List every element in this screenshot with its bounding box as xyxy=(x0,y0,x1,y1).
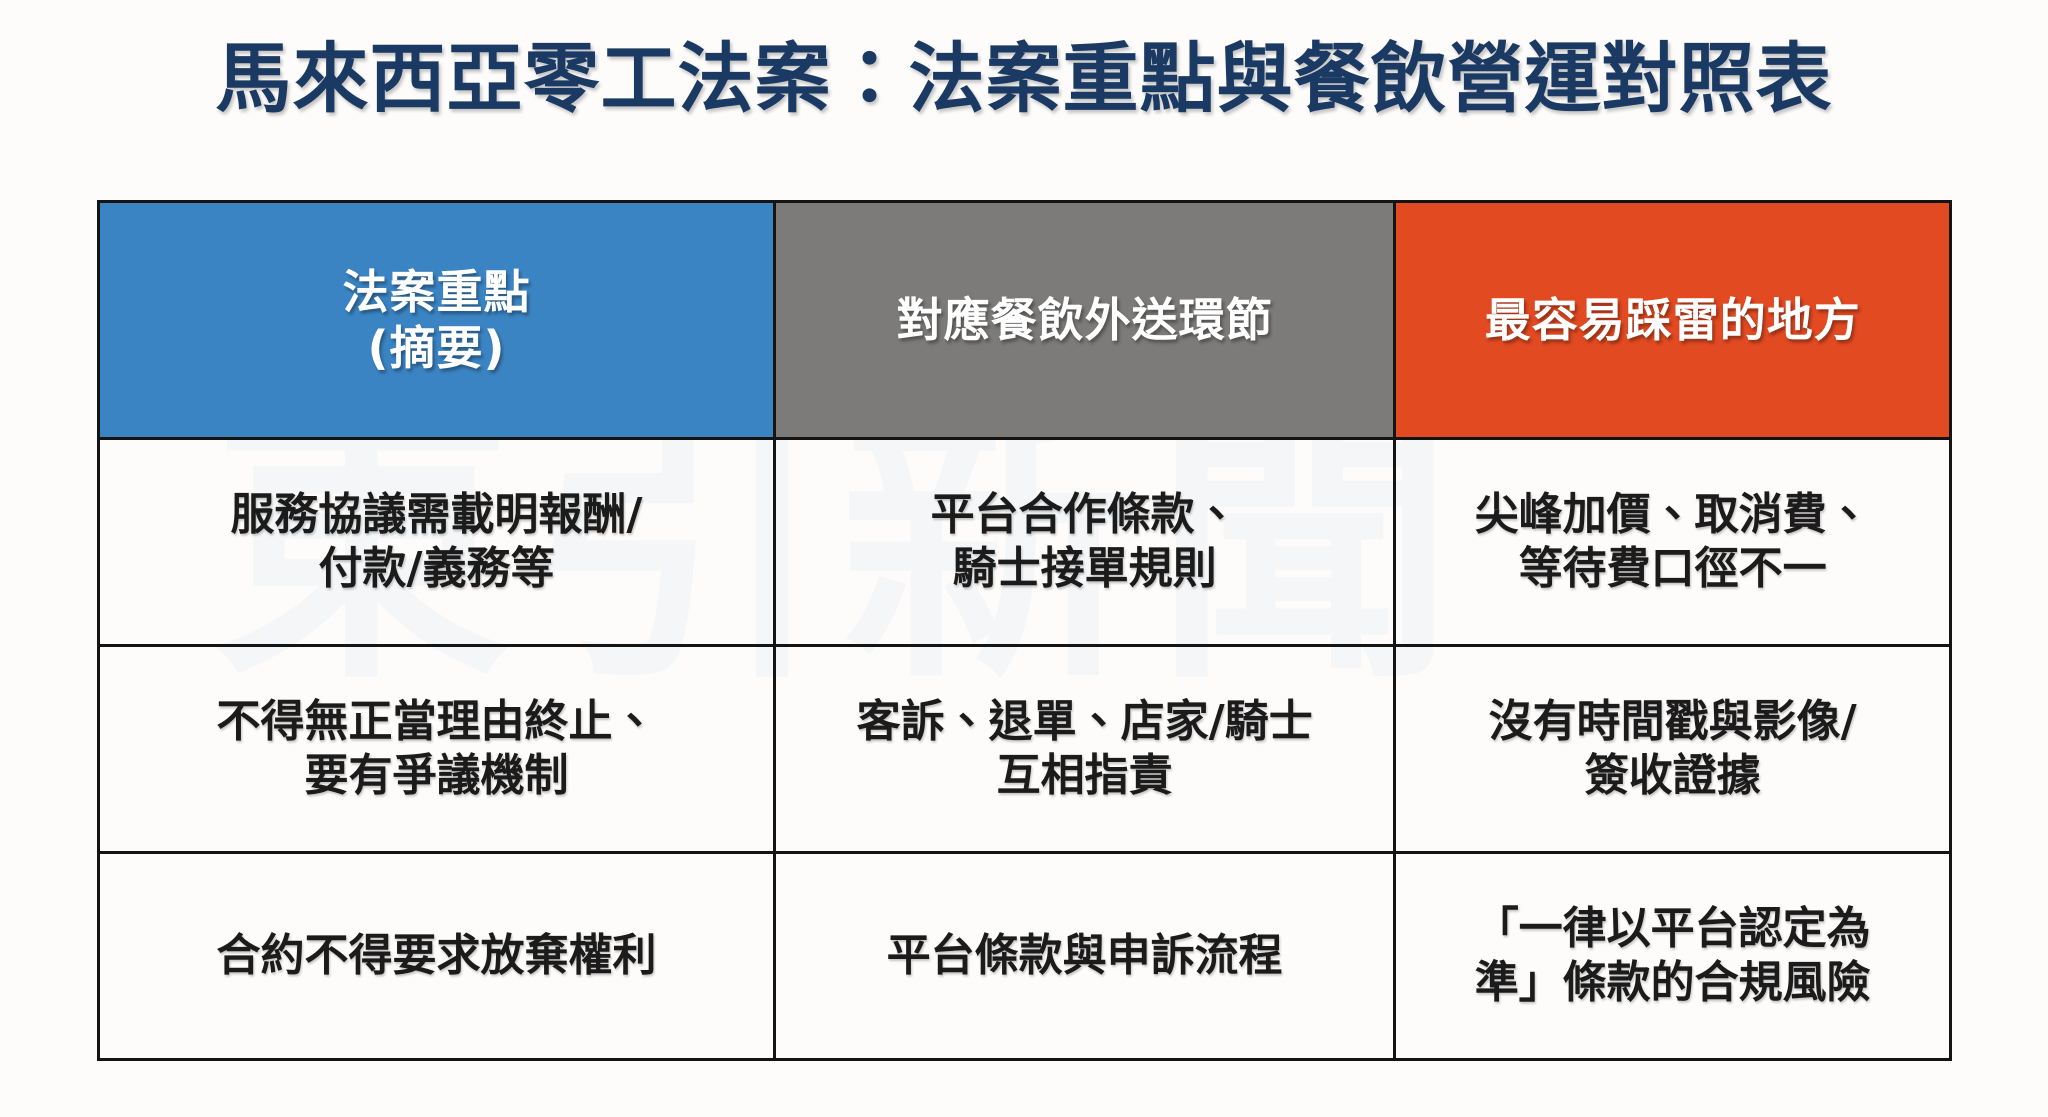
cell-row1-col3: 尖峰加價、取消費、 等待費口徑不一 xyxy=(1395,439,1951,646)
table-row: 不得無正當理由終止、 要有爭議機制 客訴、退單、店家/騎士 互相指責 沒有時間戳… xyxy=(99,646,1951,853)
cell-row1-col1-line1: 服務協議需載明報酬/ xyxy=(114,488,759,542)
cell-row2-col1: 不得無正當理由終止、 要有爭議機制 xyxy=(99,646,775,853)
column-header-delivery-stage-line1: 對應餐飲外送環節 xyxy=(790,292,1379,348)
cell-row1-col2-line2: 騎士接單規則 xyxy=(790,542,1379,596)
cell-row1-col1: 服務協議需載明報酬/ 付款/義務等 xyxy=(99,439,775,646)
page-title-text: 馬來西亞零工法案：法案重點與餐飲營運對照表 xyxy=(216,38,1833,120)
cell-row1-col2: 平台合作條款、 騎士接單規則 xyxy=(774,439,1394,646)
table-header-row: 法案重點 (摘要) 對應餐飲外送環節 最容易踩雷的地方 xyxy=(99,202,1951,439)
table-header: 法案重點 (摘要) 對應餐飲外送環節 最容易踩雷的地方 xyxy=(99,202,1951,439)
comparison-table-container: 法案重點 (摘要) 對應餐飲外送環節 最容易踩雷的地方 服務協議需載明報酬/ 付… xyxy=(97,200,1952,1061)
cell-row3-col3-line1: 「一律以平台認定為 xyxy=(1410,902,1935,956)
cell-row2-col2-line2: 互相指責 xyxy=(790,749,1379,803)
cell-row2-col1-line1: 不得無正當理由終止、 xyxy=(114,695,759,749)
column-header-pitfalls-line1: 最容易踩雷的地方 xyxy=(1410,292,1935,348)
cell-row1-col3-line1: 尖峰加價、取消費、 xyxy=(1410,488,1935,542)
table-body: 服務協議需載明報酬/ 付款/義務等 平台合作條款、 騎士接單規則 尖峰加價、取消… xyxy=(99,439,1951,1060)
cell-row2-col1-line2: 要有爭議機制 xyxy=(114,749,759,803)
column-header-bill-highlights-line1: 法案重點 xyxy=(114,264,759,320)
cell-row1-col3-line2: 等待費口徑不一 xyxy=(1410,542,1935,596)
cell-row3-col1: 合約不得要求放棄權利 xyxy=(99,853,775,1060)
cell-row3-col1-line1: 合約不得要求放棄權利 xyxy=(114,929,759,983)
column-header-bill-highlights-line2: (摘要) xyxy=(114,320,759,376)
comparison-table: 法案重點 (摘要) 對應餐飲外送環節 最容易踩雷的地方 服務協議需載明報酬/ 付… xyxy=(97,200,1952,1061)
column-header-delivery-stage: 對應餐飲外送環節 xyxy=(774,202,1394,439)
cell-row3-col3: 「一律以平台認定為 準」條款的合規風險 xyxy=(1395,853,1951,1060)
cell-row1-col2-line1: 平台合作條款、 xyxy=(790,488,1379,542)
cell-row2-col3-line1: 沒有時間戳與影像/ xyxy=(1410,695,1935,749)
cell-row2-col2-line1: 客訴、退單、店家/騎士 xyxy=(790,695,1379,749)
cell-row2-col3: 沒有時間戳與影像/ 簽收證據 xyxy=(1395,646,1951,853)
cell-row1-col1-line2: 付款/義務等 xyxy=(114,542,759,596)
table-row: 合約不得要求放棄權利 平台條款與申訴流程 「一律以平台認定為 準」條款的合規風險 xyxy=(99,853,1951,1060)
table-row: 服務協議需載明報酬/ 付款/義務等 平台合作條款、 騎士接單規則 尖峰加價、取消… xyxy=(99,439,1951,646)
page-title: 馬來西亞零工法案：法案重點與餐飲營運對照表 xyxy=(0,38,2048,120)
cell-row2-col2: 客訴、退單、店家/騎士 互相指責 xyxy=(774,646,1394,853)
cell-row3-col3-line2: 準」條款的合規風險 xyxy=(1410,956,1935,1010)
cell-row3-col2: 平台條款與申訴流程 xyxy=(774,853,1394,1060)
infographic-root: 東引新聞 馬來西亞零工法案：法案重點與餐飲營運對照表 法案重點 (摘要) 對應餐… xyxy=(0,0,2048,1117)
cell-row3-col2-line1: 平台條款與申訴流程 xyxy=(790,929,1379,983)
column-header-pitfalls: 最容易踩雷的地方 xyxy=(1395,202,1951,439)
column-header-bill-highlights: 法案重點 (摘要) xyxy=(99,202,775,439)
cell-row2-col3-line2: 簽收證據 xyxy=(1410,749,1935,803)
